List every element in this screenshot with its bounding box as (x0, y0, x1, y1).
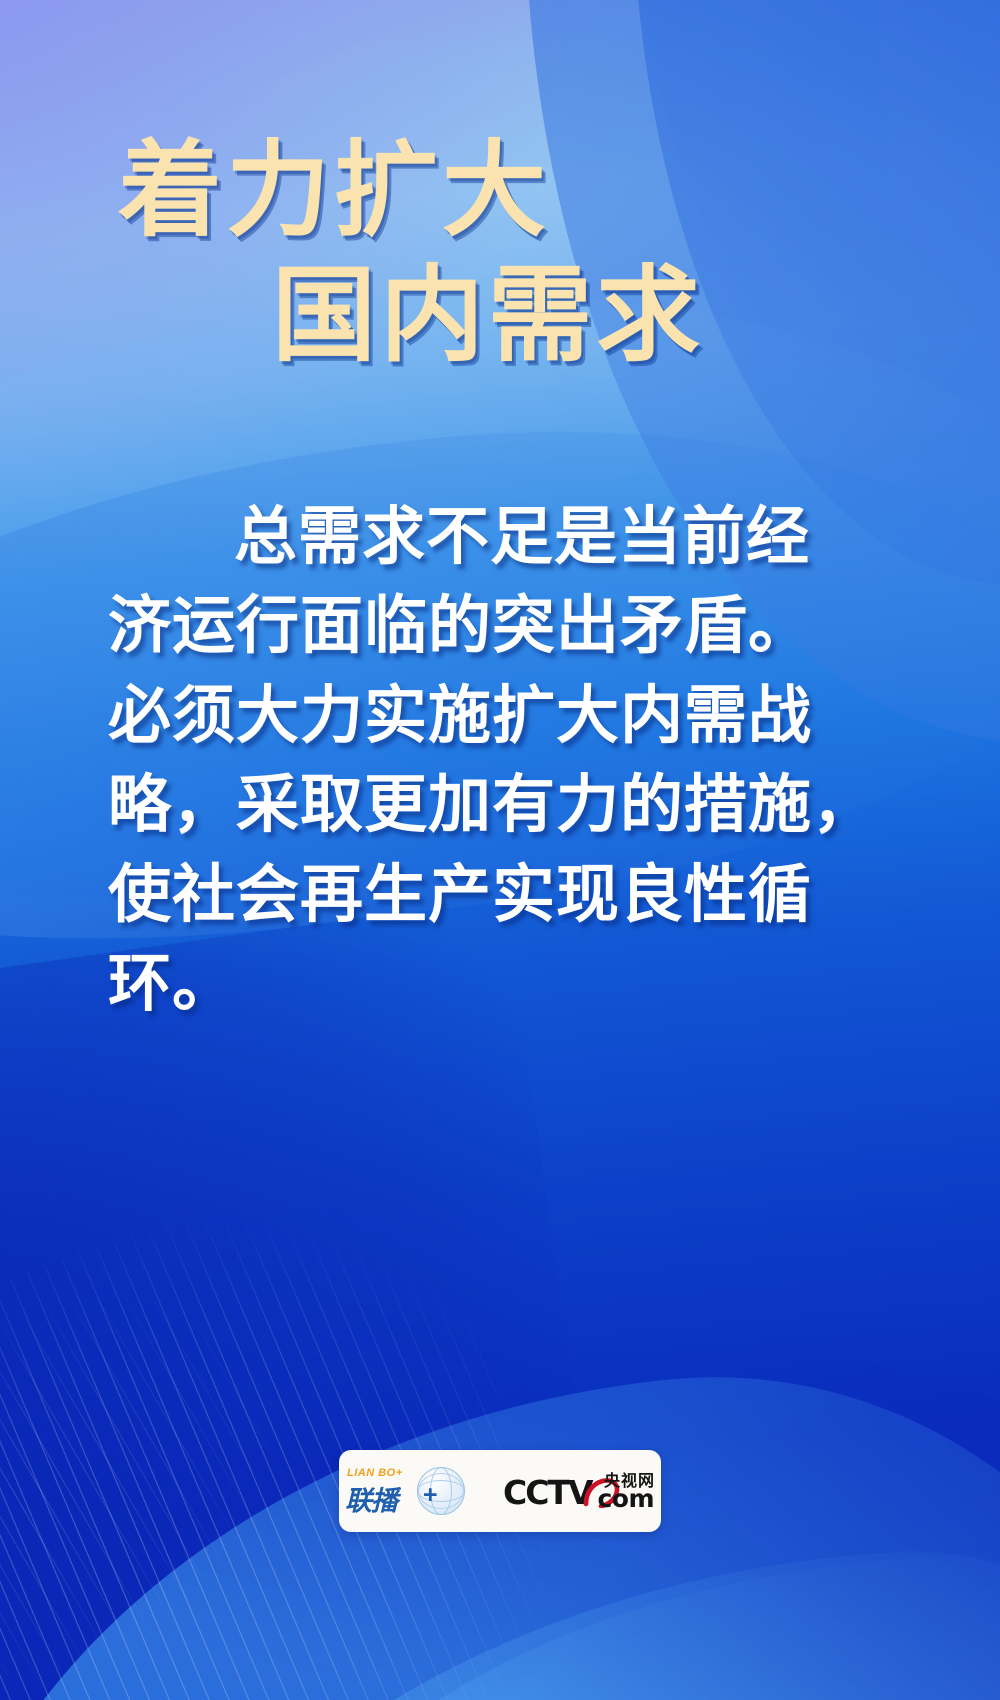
logo-bar: LIAN BO+ 联播 + CCTV 央视网 com (339, 1450, 661, 1532)
cctv-domain: com (597, 1484, 654, 1513)
cctv-logo[interactable]: CCTV 央视网 com (503, 1466, 655, 1516)
body-line-3: 必须大力实施扩大内需战 (108, 671, 908, 760)
background-line-streaks (0, 1139, 597, 1700)
page-title: 着力扩大 国内需求 (0, 128, 1000, 378)
cctv-wordmark: CCTV (503, 1473, 592, 1512)
lianbo-logo-chinese: 联播 (345, 1479, 397, 1518)
lianbo-logo-english: LIAN BO+ (347, 1467, 403, 1479)
body-line-5: 使社会再生产实现良性循 (108, 850, 908, 939)
headline-line-2: 国内需求 (0, 253, 1000, 378)
lianbo-logo[interactable]: LIAN BO+ 联播 + (345, 1465, 465, 1517)
poster-canvas: 着力扩大 国内需求 总需求不足是当前经 济运行面临的突出矛盾。 必须大力实施扩大… (0, 0, 1000, 1700)
body-line-6: 环。 (108, 939, 908, 1028)
headline-line-1: 着力扩大 (0, 128, 1000, 253)
body-line-1: 总需求不足是当前经 (108, 492, 908, 581)
lianbo-logo-plus: + (423, 1481, 438, 1510)
quote-body: 总需求不足是当前经 济运行面临的突出矛盾。 必须大力实施扩大内需战 略，采取更加… (108, 492, 908, 1029)
background-swoosh-three (243, 1548, 1000, 1700)
background-swoosh-two (63, 1533, 1000, 1700)
body-line-4: 略，采取更加有力的措施， (108, 760, 908, 849)
body-line-2: 济运行面临的突出矛盾。 (108, 581, 908, 670)
background-line-streaks-secondary (0, 1215, 356, 1700)
